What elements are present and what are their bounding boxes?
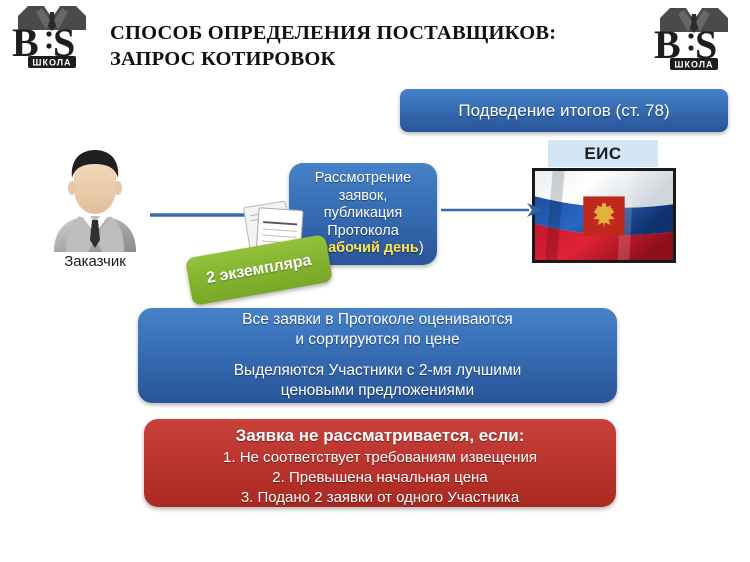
review-line-2: заявок, bbox=[339, 188, 388, 206]
deadline-paren-close: ) bbox=[419, 240, 424, 256]
evaluation-line-2: и сортируются по цене bbox=[295, 331, 459, 348]
eis-label: ЕИС bbox=[548, 140, 658, 167]
evaluation-box: Все заявки в Протоколе оцениваются и сор… bbox=[138, 308, 617, 403]
review-line-4: Протокола bbox=[327, 223, 399, 241]
svg-text:ШКОЛА: ШКОЛА bbox=[32, 58, 71, 68]
bs-school-logo-icon: B S ШКОЛА bbox=[648, 6, 740, 72]
rejection-conditions-box: Заявка не рассматривается, если: 1. Не с… bbox=[144, 419, 616, 507]
rejection-item-1: 1. Не соответствует требованиям извещени… bbox=[223, 448, 537, 468]
evaluation-paragraph-1: Все заявки в Протоколе оцениваются и сор… bbox=[242, 310, 513, 350]
customer-label: Заказчик bbox=[36, 253, 154, 270]
customer-figure: Заказчик bbox=[36, 148, 154, 278]
summary-results-label: Подведение итогов (ст. 78) bbox=[458, 101, 669, 121]
page-title-line-1: Способ определения поставщиков: bbox=[110, 22, 556, 44]
eis-label-text: ЕИС bbox=[584, 144, 621, 164]
arrow-right-icon bbox=[441, 200, 545, 220]
svg-text:ШКОЛА: ШКОЛА bbox=[674, 60, 713, 70]
evaluation-line-1: Все заявки в Протоколе оцениваются bbox=[242, 311, 513, 328]
evaluation-paragraph-2: Выделяются Участники с 2-мя лучшими цено… bbox=[234, 361, 522, 401]
evaluation-line-3: Выделяются Участники с 2-мя лучшими bbox=[234, 362, 522, 379]
copies-label: 2 экземпляра bbox=[205, 252, 313, 288]
page-title: Способ определения поставщиков: Запрос к… bbox=[110, 20, 640, 72]
summary-results-box: Подведение итогов (ст. 78) bbox=[400, 89, 728, 132]
evaluation-line-4: ценовыми предложениями bbox=[281, 382, 474, 399]
person-avatar-icon bbox=[36, 148, 154, 252]
page-title-line-2: Запрос котировок bbox=[110, 48, 336, 70]
review-line-1: Рассмотрение bbox=[315, 170, 411, 188]
copies-ribbon: 2 экземпляра bbox=[185, 234, 333, 306]
russian-flag-with-coat-of-arms-icon bbox=[532, 168, 676, 263]
rejection-item-2: 2. Превышена начальная цена bbox=[272, 468, 487, 488]
rejection-item-3: 3. Подано 2 заявки от одного Участника bbox=[241, 488, 519, 508]
bs-school-logo-icon: B S ШКОЛА bbox=[6, 4, 98, 70]
review-line-3: публикация bbox=[324, 205, 402, 223]
slide-canvas: B S ШКОЛА B S ШКОЛА Способ определен bbox=[0, 0, 750, 562]
rejection-heading: Заявка не рассматривается, если: bbox=[236, 426, 525, 446]
